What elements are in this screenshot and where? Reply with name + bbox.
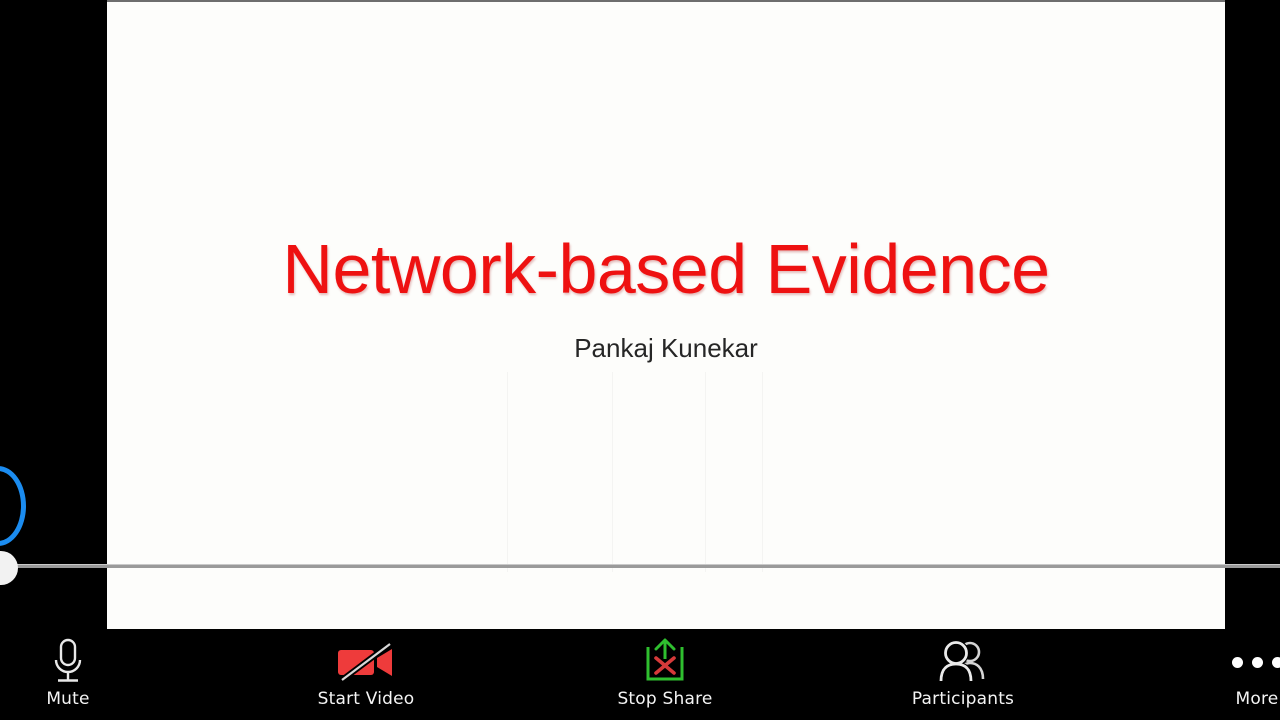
- more-button[interactable]: More: [1212, 629, 1280, 720]
- microphone-icon: [50, 636, 86, 688]
- slide-artifact-band: [762, 372, 763, 572]
- stop-share-button-label: Stop Share: [617, 689, 712, 709]
- more-dot: [1232, 657, 1243, 668]
- slide-title: Network-based Evidence: [107, 234, 1225, 304]
- more-dots-icon: [1232, 636, 1280, 688]
- meeting-toolbar: Mute Start Video: [0, 629, 1280, 720]
- more-button-label: More: [1236, 689, 1279, 709]
- screen-divider-rule: [0, 564, 1280, 568]
- participants-button[interactable]: Participants: [899, 629, 1027, 720]
- slide-artifact-band: [507, 372, 508, 572]
- slide-artifact-band: [705, 372, 706, 572]
- mute-button-label: Mute: [46, 689, 89, 709]
- self-view-dot-indicator: [0, 551, 18, 585]
- video-camera-off-icon: [335, 636, 397, 688]
- slide-subtitle-author: Pankaj Kunekar: [107, 335, 1225, 361]
- more-dot: [1252, 657, 1263, 668]
- participants-icon: [934, 636, 992, 688]
- start-video-button-label: Start Video: [318, 689, 415, 709]
- slide-artifact-band: [612, 372, 613, 572]
- meeting-screen: Network-based Evidence Pankaj Kunekar Mu…: [0, 0, 1280, 720]
- more-dot: [1272, 657, 1280, 668]
- self-view-ring-indicator: [0, 466, 26, 546]
- mute-button[interactable]: Mute: [4, 629, 132, 720]
- stop-share-button[interactable]: Stop Share: [601, 629, 729, 720]
- shared-slide: Network-based Evidence Pankaj Kunekar: [107, 2, 1225, 629]
- share-screen-stop-icon: [639, 636, 691, 688]
- participants-button-label: Participants: [912, 689, 1014, 709]
- start-video-button[interactable]: Start Video: [302, 629, 430, 720]
